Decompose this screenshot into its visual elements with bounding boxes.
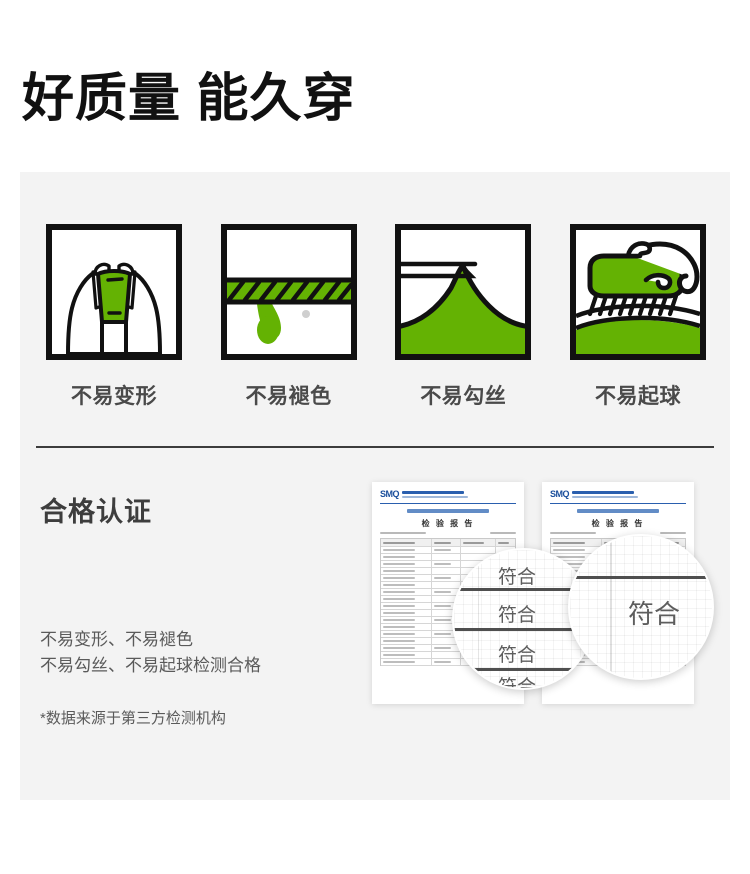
feature-item-anti-pilling: 不易起球: [570, 224, 706, 410]
feature-item-anti-snag: 不易勾丝: [395, 224, 531, 410]
feature-list: 不易变形: [46, 224, 706, 410]
conformance-word: 符合: [498, 600, 536, 627]
stretch-fabric-hands-icon: [46, 224, 182, 360]
snagged-fabric-icon: [395, 224, 531, 360]
report-title: 检 验 报 告: [380, 518, 516, 529]
feature-label: 不易勾丝: [395, 380, 531, 410]
lens-column-line: [610, 536, 612, 678]
certification-note: *数据来源于第三方检测机构: [40, 707, 360, 728]
feature-label: 不易褪色: [221, 380, 357, 410]
feature-item-anti-fade: 不易褪色: [221, 224, 357, 410]
smq-logo-wordmark: [402, 490, 516, 498]
certification-title: 合格认证: [40, 490, 360, 529]
certification-description: 不易变形、不易褪色 不易勾丝、不易起球检测合格: [40, 627, 360, 680]
conformance-word: 符合: [498, 672, 536, 690]
conformance-word: 符合: [498, 640, 536, 667]
content-panel: 不易变形: [20, 172, 730, 800]
logo-rule: [380, 503, 516, 504]
doc-subtitle-bar: [577, 509, 659, 513]
smq-logo-mark: SMQ: [380, 490, 399, 499]
report-meta: [380, 532, 516, 534]
conformance-word: 符合: [628, 594, 680, 631]
smq-logo-wordmark: [572, 490, 686, 498]
section-divider: [36, 446, 714, 448]
dripping-dye-icon: [221, 224, 357, 360]
smq-logo: SMQ: [550, 490, 686, 499]
promo-page: 好质量 能久穿: [0, 0, 750, 874]
report-title: 检 验 报 告: [550, 518, 686, 529]
certificate-documents: SMQ 检 验 报 告: [350, 482, 722, 742]
feature-label: 不易起球: [570, 380, 706, 410]
brush-scrub-icon: [570, 224, 706, 360]
page-title: 好质量 能久穿: [22, 73, 355, 125]
feature-label: 不易变形: [46, 380, 182, 410]
report-meta: [550, 532, 686, 534]
certification-block: 合格认证 不易变形、不易褪色 不易勾丝、不易起球检测合格 *数据来源于第三方检测…: [40, 490, 360, 728]
smq-logo-mark: SMQ: [550, 490, 569, 499]
doc-subtitle-bar: [407, 509, 489, 513]
lens-rule: [570, 576, 712, 579]
magnifier-lens-b: 符合: [568, 534, 714, 680]
conformance-word: 符合: [498, 562, 536, 589]
logo-rule: [550, 503, 686, 504]
table-row: [381, 539, 515, 547]
smq-logo: SMQ: [380, 490, 516, 499]
feature-item-anti-deform: 不易变形: [46, 224, 182, 410]
